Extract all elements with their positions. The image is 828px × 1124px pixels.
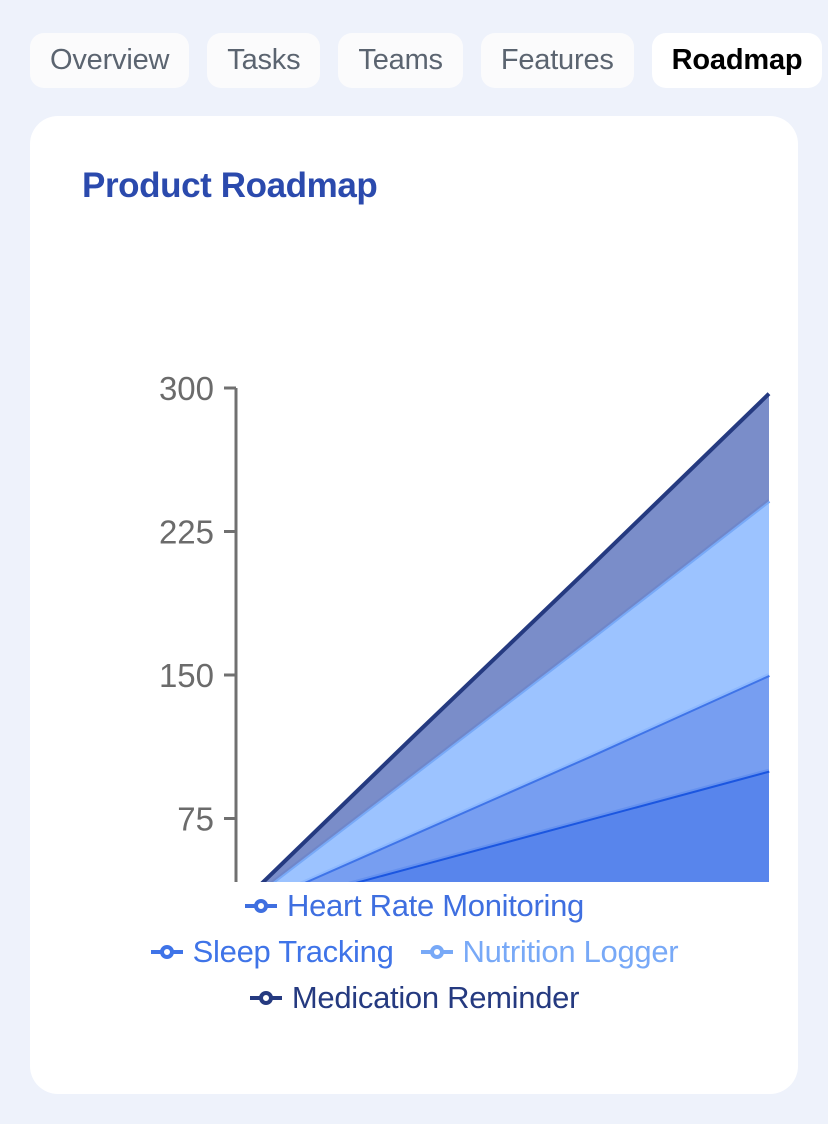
chart-svg: 075150225300SepOctNovDec (30, 242, 798, 882)
chart-legend: Heart Rate Monitoring Sleep Tracking Nut… (30, 888, 798, 1026)
tab-bar: Overview Tasks Teams Features Roadmap (0, 0, 828, 98)
legend-marker-icon (150, 944, 184, 960)
y-tick-label: 75 (177, 801, 214, 838)
tab-teams-label: Teams (358, 44, 442, 77)
legend-label: Nutrition Logger (463, 934, 679, 970)
legend-marker-icon (420, 944, 454, 960)
legend-marker-icon (249, 990, 283, 1006)
legend-label: Sleep Tracking (193, 934, 394, 970)
roadmap-card: Product Roadmap 075150225300SepOctNovDec… (30, 116, 798, 1094)
legend-label: Medication Reminder (292, 980, 579, 1016)
legend-item-nutrition-logger[interactable]: Nutrition Logger (420, 934, 679, 970)
chart-areas (236, 394, 769, 882)
legend-row: Sleep Tracking Nutrition Logger (30, 934, 798, 970)
y-tick-label: 300 (159, 370, 214, 407)
tab-features-label: Features (501, 44, 614, 77)
legend-row: Heart Rate Monitoring (30, 888, 798, 924)
tab-roadmap[interactable]: Roadmap (652, 33, 823, 88)
tab-features[interactable]: Features (481, 33, 634, 88)
tab-roadmap-label: Roadmap (672, 44, 803, 77)
legend-label: Heart Rate Monitoring (287, 888, 584, 924)
legend-item-medication-reminder[interactable]: Medication Reminder (249, 980, 579, 1016)
tab-teams[interactable]: Teams (338, 33, 462, 88)
page-title: Product Roadmap (82, 166, 377, 206)
legend-row: Medication Reminder (30, 980, 798, 1016)
y-tick-label: 225 (159, 514, 214, 551)
legend-item-sleep-tracking[interactable]: Sleep Tracking (150, 934, 394, 970)
y-tick-label: 150 (159, 657, 214, 694)
tab-tasks-label: Tasks (227, 44, 300, 77)
stacked-area-chart: 075150225300SepOctNovDec (30, 242, 798, 882)
tab-overview-label: Overview (50, 44, 169, 77)
tab-overview[interactable]: Overview (30, 33, 189, 88)
legend-marker-icon (244, 898, 278, 914)
tab-tasks[interactable]: Tasks (207, 33, 320, 88)
legend-item-heart-rate-monitoring[interactable]: Heart Rate Monitoring (244, 888, 584, 924)
